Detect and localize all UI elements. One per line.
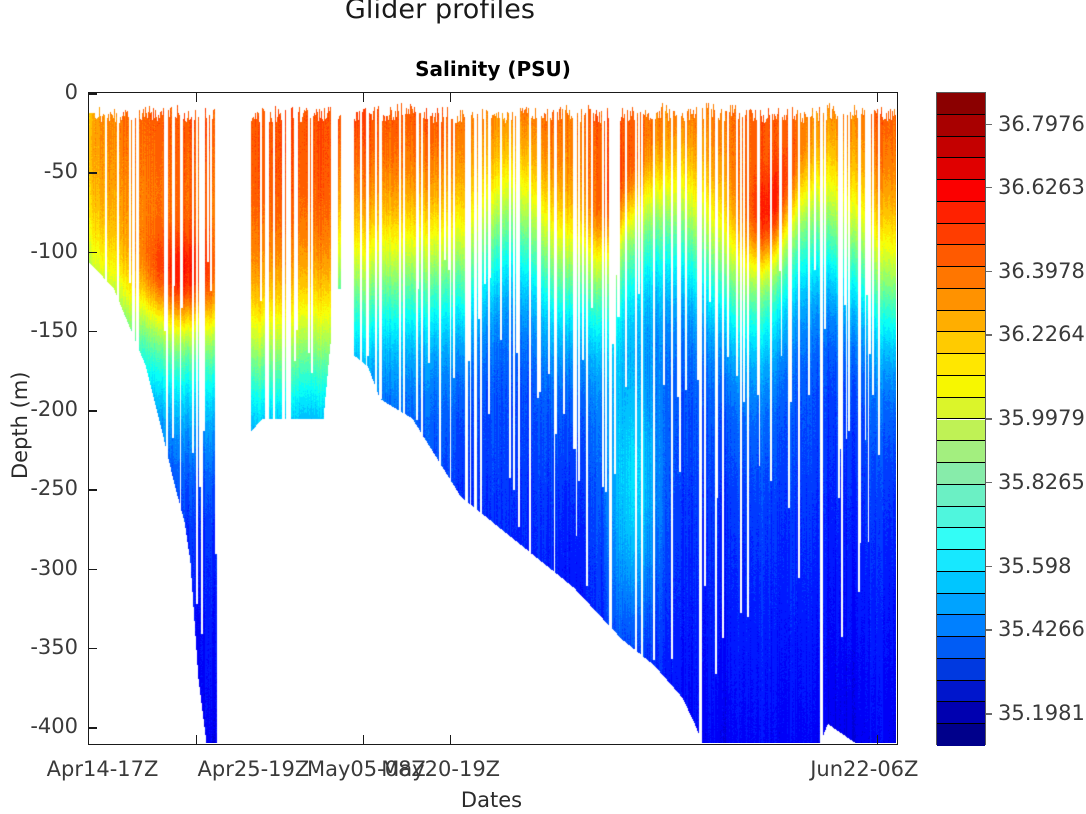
- x-tick-label: Apr14-17Z: [47, 757, 159, 781]
- colorbar-tick-label: 35.598: [998, 554, 1071, 578]
- x-tick-mark: [363, 93, 365, 102]
- colorbar-tick-mark: [986, 566, 992, 567]
- colorbar-band: [937, 115, 985, 137]
- y-tick-mark: [89, 489, 97, 491]
- colorbar-band: [937, 267, 985, 289]
- y-tick-label: -250: [0, 476, 78, 500]
- colorbar-band: [937, 289, 985, 311]
- colorbar-tick-label: 36.3978: [998, 259, 1085, 283]
- colorbar-tick-label: 35.4266: [998, 617, 1085, 641]
- colorbar-band: [937, 572, 985, 594]
- x-tick-mark: [877, 735, 879, 744]
- x-tick-mark: [877, 93, 879, 102]
- colorbar-band: [937, 485, 985, 507]
- colorbar-tick-label: 35.8265: [998, 470, 1085, 494]
- colorbar-band: [937, 376, 985, 398]
- colorbar-tick-label: 36.7976: [998, 112, 1085, 136]
- y-tick-label: -350: [0, 635, 78, 659]
- y-tick-mark: [89, 569, 97, 571]
- colorbar-band: [937, 441, 985, 463]
- colorbar-band: [937, 702, 985, 724]
- x-tick-label: May20-19Z: [381, 757, 500, 781]
- colorbar-tick-mark: [986, 187, 992, 188]
- colorbar-tick-label: 35.1981: [998, 701, 1085, 725]
- heatmap-axes: [88, 92, 898, 745]
- y-tick-mark: [89, 93, 97, 95]
- colorbar-band: [937, 550, 985, 572]
- y-tick-label: -300: [0, 556, 78, 580]
- colorbar-tick-label: 35.9979: [998, 406, 1085, 430]
- y-tick-label: -50: [0, 159, 78, 183]
- colorbar-tick-mark: [986, 418, 992, 419]
- colorbar-tick-mark: [986, 334, 992, 335]
- colorbar-band: [937, 311, 985, 333]
- colorbar-band: [937, 615, 985, 637]
- y-axis-title: Depth (m): [8, 372, 32, 479]
- x-tick-mark: [196, 93, 198, 102]
- y-tick-label: -100: [0, 239, 78, 263]
- y-tick-label: -150: [0, 318, 78, 342]
- x-tick-mark: [450, 735, 452, 744]
- colorbar-band: [937, 180, 985, 202]
- x-tick-mark: [363, 735, 365, 744]
- colorbar-band: [937, 724, 985, 746]
- x-tick-label: Jun22-06Z: [810, 757, 918, 781]
- colorbar-tick-mark: [986, 482, 992, 483]
- x-tick-mark: [196, 735, 198, 744]
- y-tick-label: 0: [0, 80, 78, 104]
- colorbar-band: [937, 245, 985, 267]
- y-tick-mark: [89, 331, 97, 333]
- x-tick-label: Apr25-19Z: [198, 757, 310, 781]
- colorbar-band: [937, 659, 985, 681]
- colorbar-band: [937, 420, 985, 442]
- figure-suptitle: Glider profiles: [0, 0, 880, 25]
- colorbar-band: [937, 137, 985, 159]
- colorbar-band: [937, 332, 985, 354]
- y-tick-mark: [89, 172, 97, 174]
- x-tick-mark: [450, 93, 452, 102]
- colorbar-tick-mark: [986, 629, 992, 630]
- colorbar-tick-mark: [986, 713, 992, 714]
- colorbar-band: [937, 158, 985, 180]
- y-tick-mark: [89, 410, 97, 412]
- colorbar-band: [937, 528, 985, 550]
- colorbar-tick-label: 36.6263: [998, 175, 1085, 199]
- colorbar-band: [937, 507, 985, 529]
- colorbar-band: [937, 594, 985, 616]
- colorbar-band: [937, 398, 985, 420]
- colorbar-band: [937, 681, 985, 703]
- colorbar-tick-label: 36.2264: [998, 322, 1085, 346]
- plot-title: Salinity (PSU): [88, 57, 898, 81]
- salinity-heatmap-canvas: [89, 93, 896, 743]
- colorbar-band: [937, 224, 985, 246]
- colorbar-tick-mark: [986, 271, 992, 272]
- colorbar-band: [937, 463, 985, 485]
- figure-root: Glider profiles Salinity (PSU) 0-50-100-…: [0, 0, 1086, 814]
- colorbar-band: [937, 202, 985, 224]
- colorbar: [936, 92, 986, 745]
- colorbar-tick-mark: [986, 124, 992, 125]
- y-tick-label: -400: [0, 714, 78, 738]
- colorbar-band: [937, 93, 985, 115]
- colorbar-band: [937, 354, 985, 376]
- colorbar-band: [937, 637, 985, 659]
- y-tick-mark: [89, 648, 97, 650]
- x-axis-title: Dates: [461, 788, 522, 812]
- y-tick-mark: [89, 727, 97, 729]
- y-tick-mark: [89, 252, 97, 254]
